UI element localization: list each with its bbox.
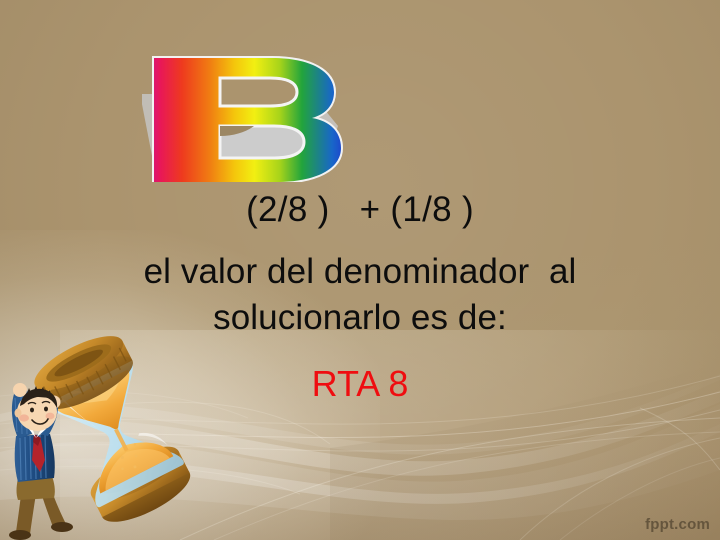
fppt-watermark: fppt.com	[645, 516, 710, 533]
businessman-holding-hourglass-illustration	[0, 328, 226, 540]
question-line-1: el valor del denominador al	[0, 249, 720, 295]
rainbow-letter-b-logo	[142, 52, 392, 182]
presentation-slide: (2/8 ) + (1/8 ) el valor del denominador…	[0, 0, 720, 540]
equation-line: (2/8 ) + (1/8 )	[0, 186, 720, 233]
